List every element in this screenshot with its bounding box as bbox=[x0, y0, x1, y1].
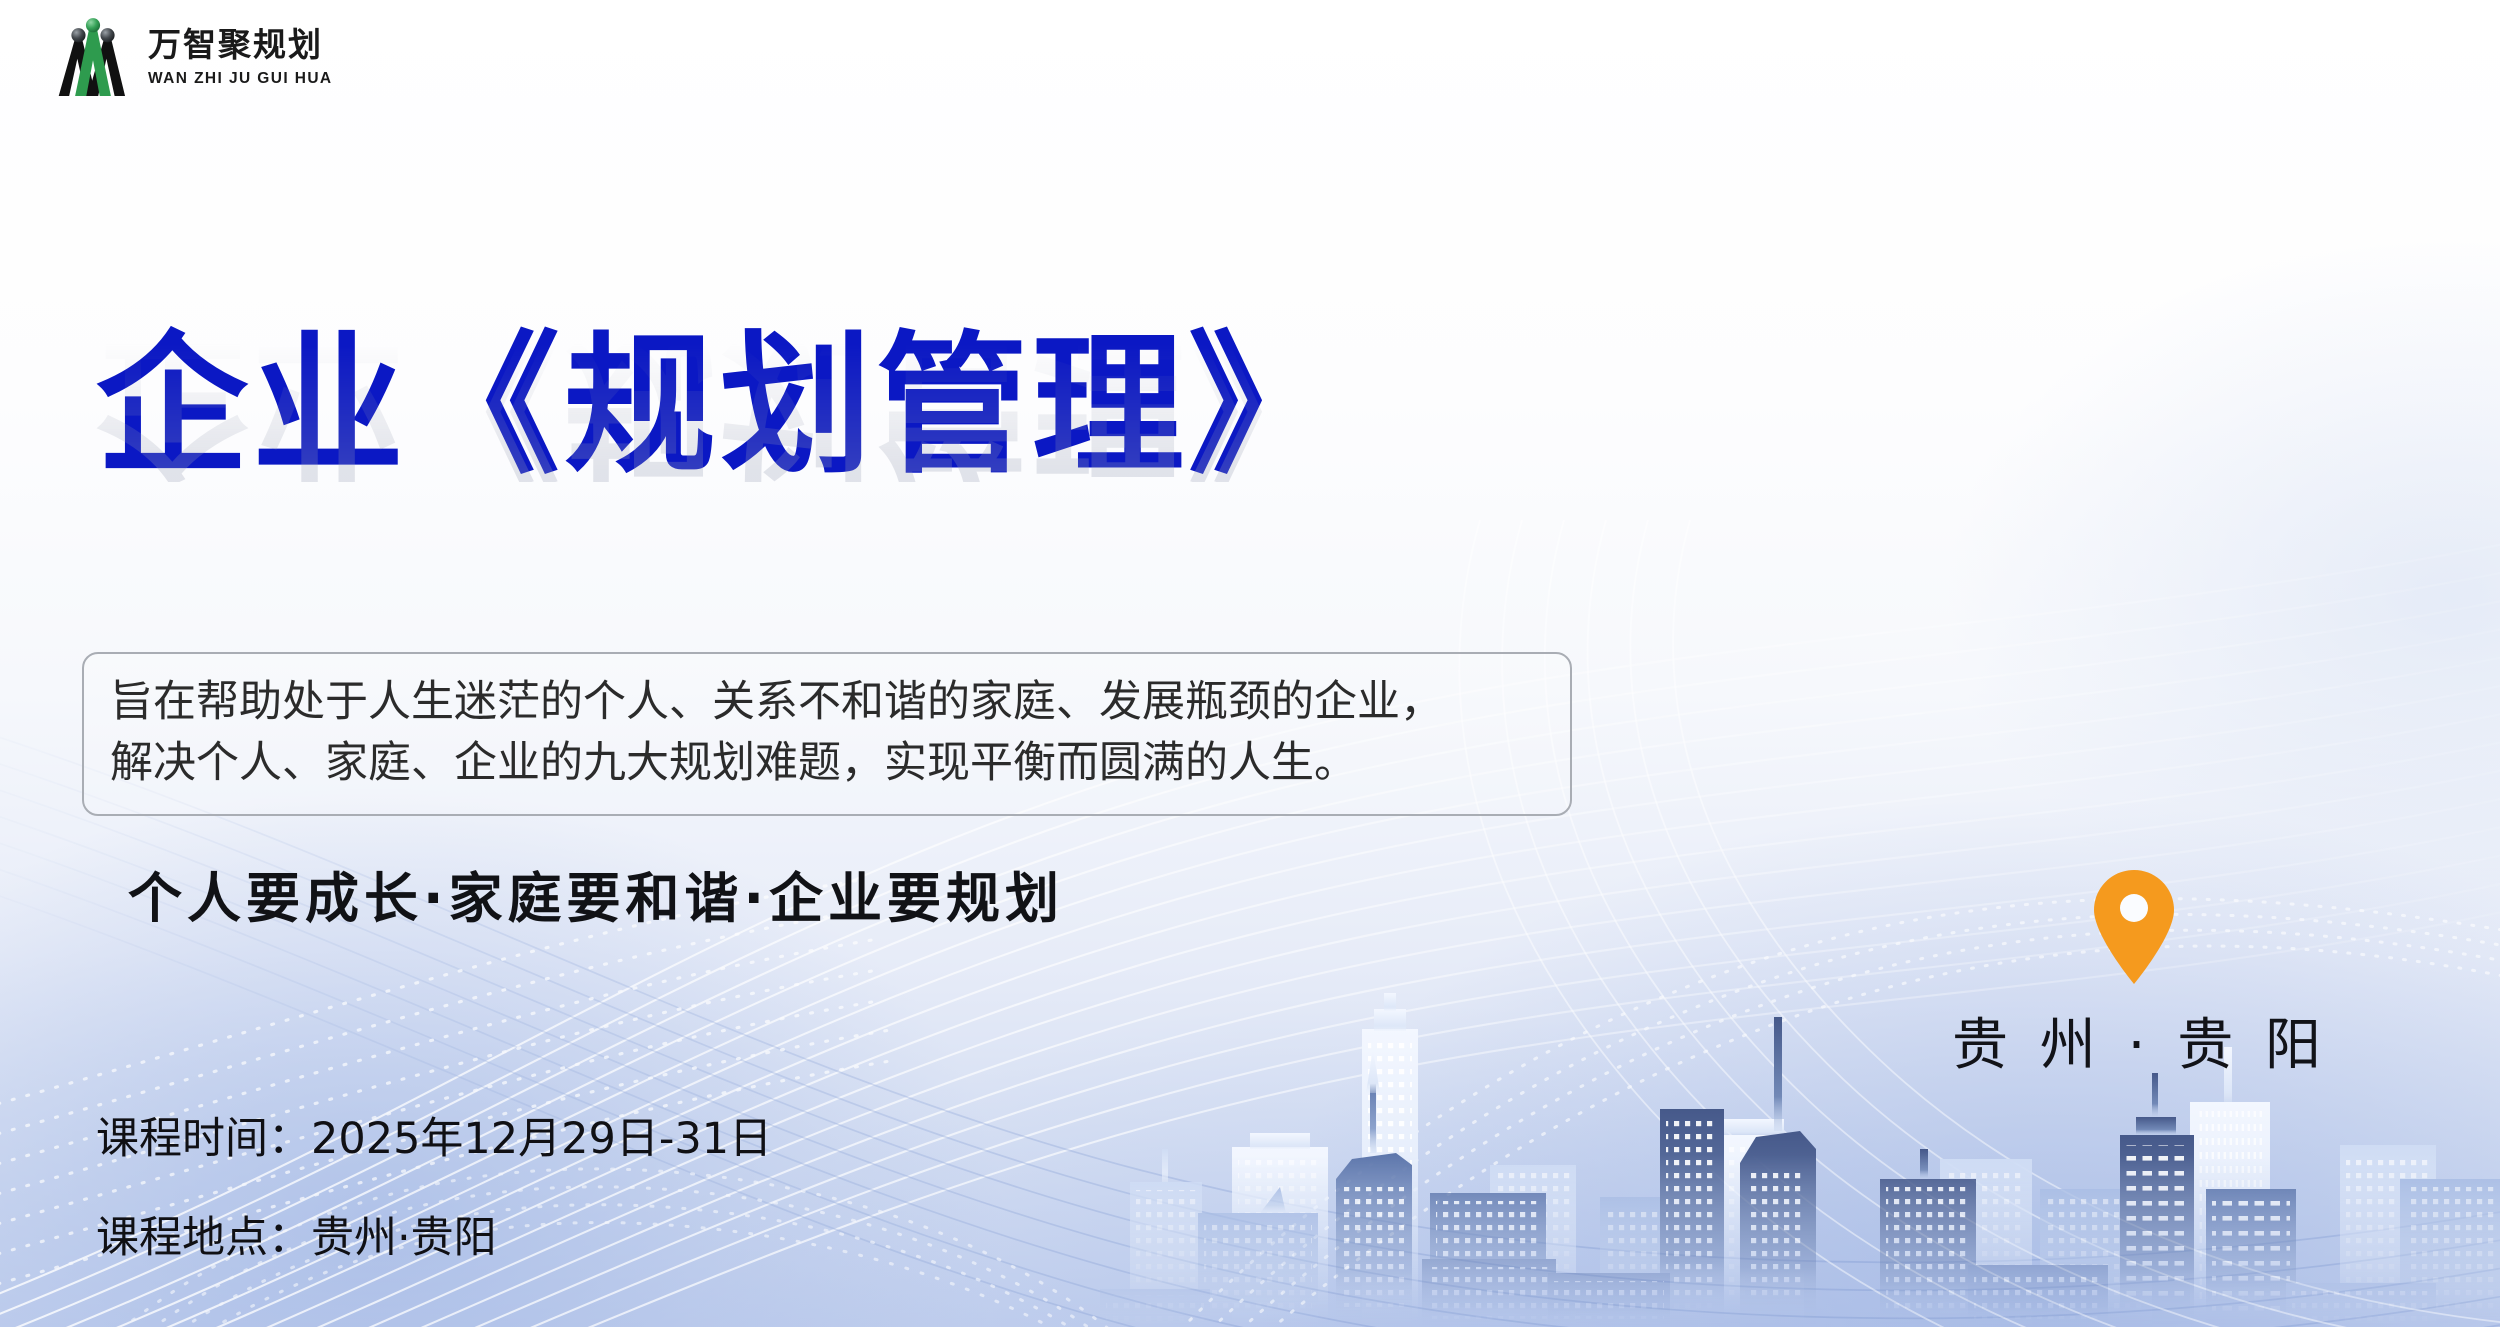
description-box: 旨在帮助处于人生迷茫的个人、关系不和谐的家庭、发展瓶颈的企业， 解决个人、家庭、… bbox=[82, 652, 1572, 816]
brand-logo[interactable]: 万智聚规划 WAN ZHI JU GUI HUA bbox=[52, 18, 333, 98]
course-time-value: 2025年12月29日-31日 bbox=[311, 1114, 772, 1164]
course-time-row: 课程时间：2025年12月29日-31日 bbox=[96, 1118, 772, 1161]
course-place-row: 课程地点：贵州·贵阳 bbox=[96, 1217, 772, 1260]
location-pin bbox=[2088, 866, 2180, 986]
description-line-2: 解决个人、家庭、企业的九大规划难题，实现平衡而圆满的人生。 bbox=[110, 733, 1544, 794]
map-pin-icon bbox=[2088, 866, 2180, 986]
brand-name-cn: 万智聚规划 bbox=[148, 28, 333, 64]
location-city-label: 贵 州 · 贵 阳 bbox=[1950, 1000, 2330, 1081]
course-info: 课程时间：2025年12月29日-31日 课程地点：贵州·贵阳 bbox=[96, 1118, 772, 1260]
brand-name-pinyin: WAN ZHI JU GUI HUA bbox=[148, 70, 333, 88]
description-line-1: 旨在帮助处于人生迷茫的个人、关系不和谐的家庭、发展瓶颈的企业， bbox=[110, 672, 1544, 733]
three-people-group-icon bbox=[52, 18, 134, 98]
page-title: 企业《规划管理》 bbox=[96, 330, 1344, 482]
promo-poster: 万智聚规划 WAN ZHI JU GUI HUA 企业《规划管理》 企业《规划管… bbox=[0, 0, 2500, 1327]
course-time-label: 课程时间： bbox=[96, 1114, 311, 1164]
tagline: 个人要成长·家庭要和谐·企业要规划 bbox=[128, 854, 1064, 933]
hero-title-block: 企业《规划管理》 企业《规划管理》 bbox=[96, 330, 1344, 482]
course-place-value: 贵州·贵阳 bbox=[311, 1213, 497, 1263]
city-skyline-silhouette bbox=[1100, 897, 2500, 1327]
course-place-label: 课程地点： bbox=[96, 1213, 311, 1263]
